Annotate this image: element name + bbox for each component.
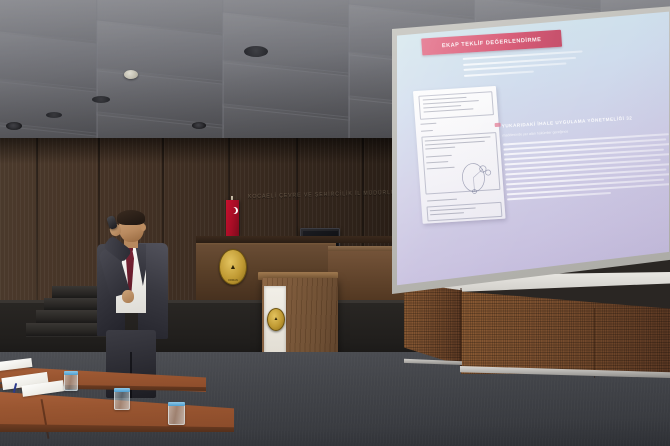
projection-screen: EKAP TEKLİF DEĞERLENDİRME <box>392 6 670 294</box>
lectern-emblem: ▲ <box>267 308 285 331</box>
institution-emblem: ▲ ORMAN <box>219 249 247 285</box>
glass-cap <box>114 388 130 392</box>
water-glass <box>64 373 78 391</box>
tree-icon: ▲ <box>274 317 279 322</box>
tree-icon: ▲ <box>230 264 237 271</box>
crescent-icon <box>229 207 236 214</box>
acoustic-panel-wall-right <box>461 288 670 374</box>
hand-right <box>122 290 134 303</box>
water-glass <box>168 404 185 425</box>
stage-desk-shadow <box>196 236 414 243</box>
acoustic-panel-seam <box>594 308 595 378</box>
glass-cap <box>64 371 78 375</box>
screen-glare <box>397 10 669 288</box>
glass-cap <box>168 402 185 406</box>
turkish-flag-icon <box>226 200 239 236</box>
wall-top-shadow <box>0 138 420 164</box>
water-glass <box>114 390 130 410</box>
emblem-label: ORMAN <box>228 279 238 282</box>
screen-surface: EKAP TEKLİF DEĞERLENDİRME <box>397 10 669 288</box>
hair <box>117 210 145 225</box>
acoustic-wall-corner <box>460 288 462 370</box>
screenshot-root: KOCAELİ ÇEVRE VE ŞEHİRCİLİK İL MÜDÜRLÜĞÜ… <box>0 0 670 446</box>
ear <box>141 224 146 231</box>
speaker <box>88 212 180 392</box>
